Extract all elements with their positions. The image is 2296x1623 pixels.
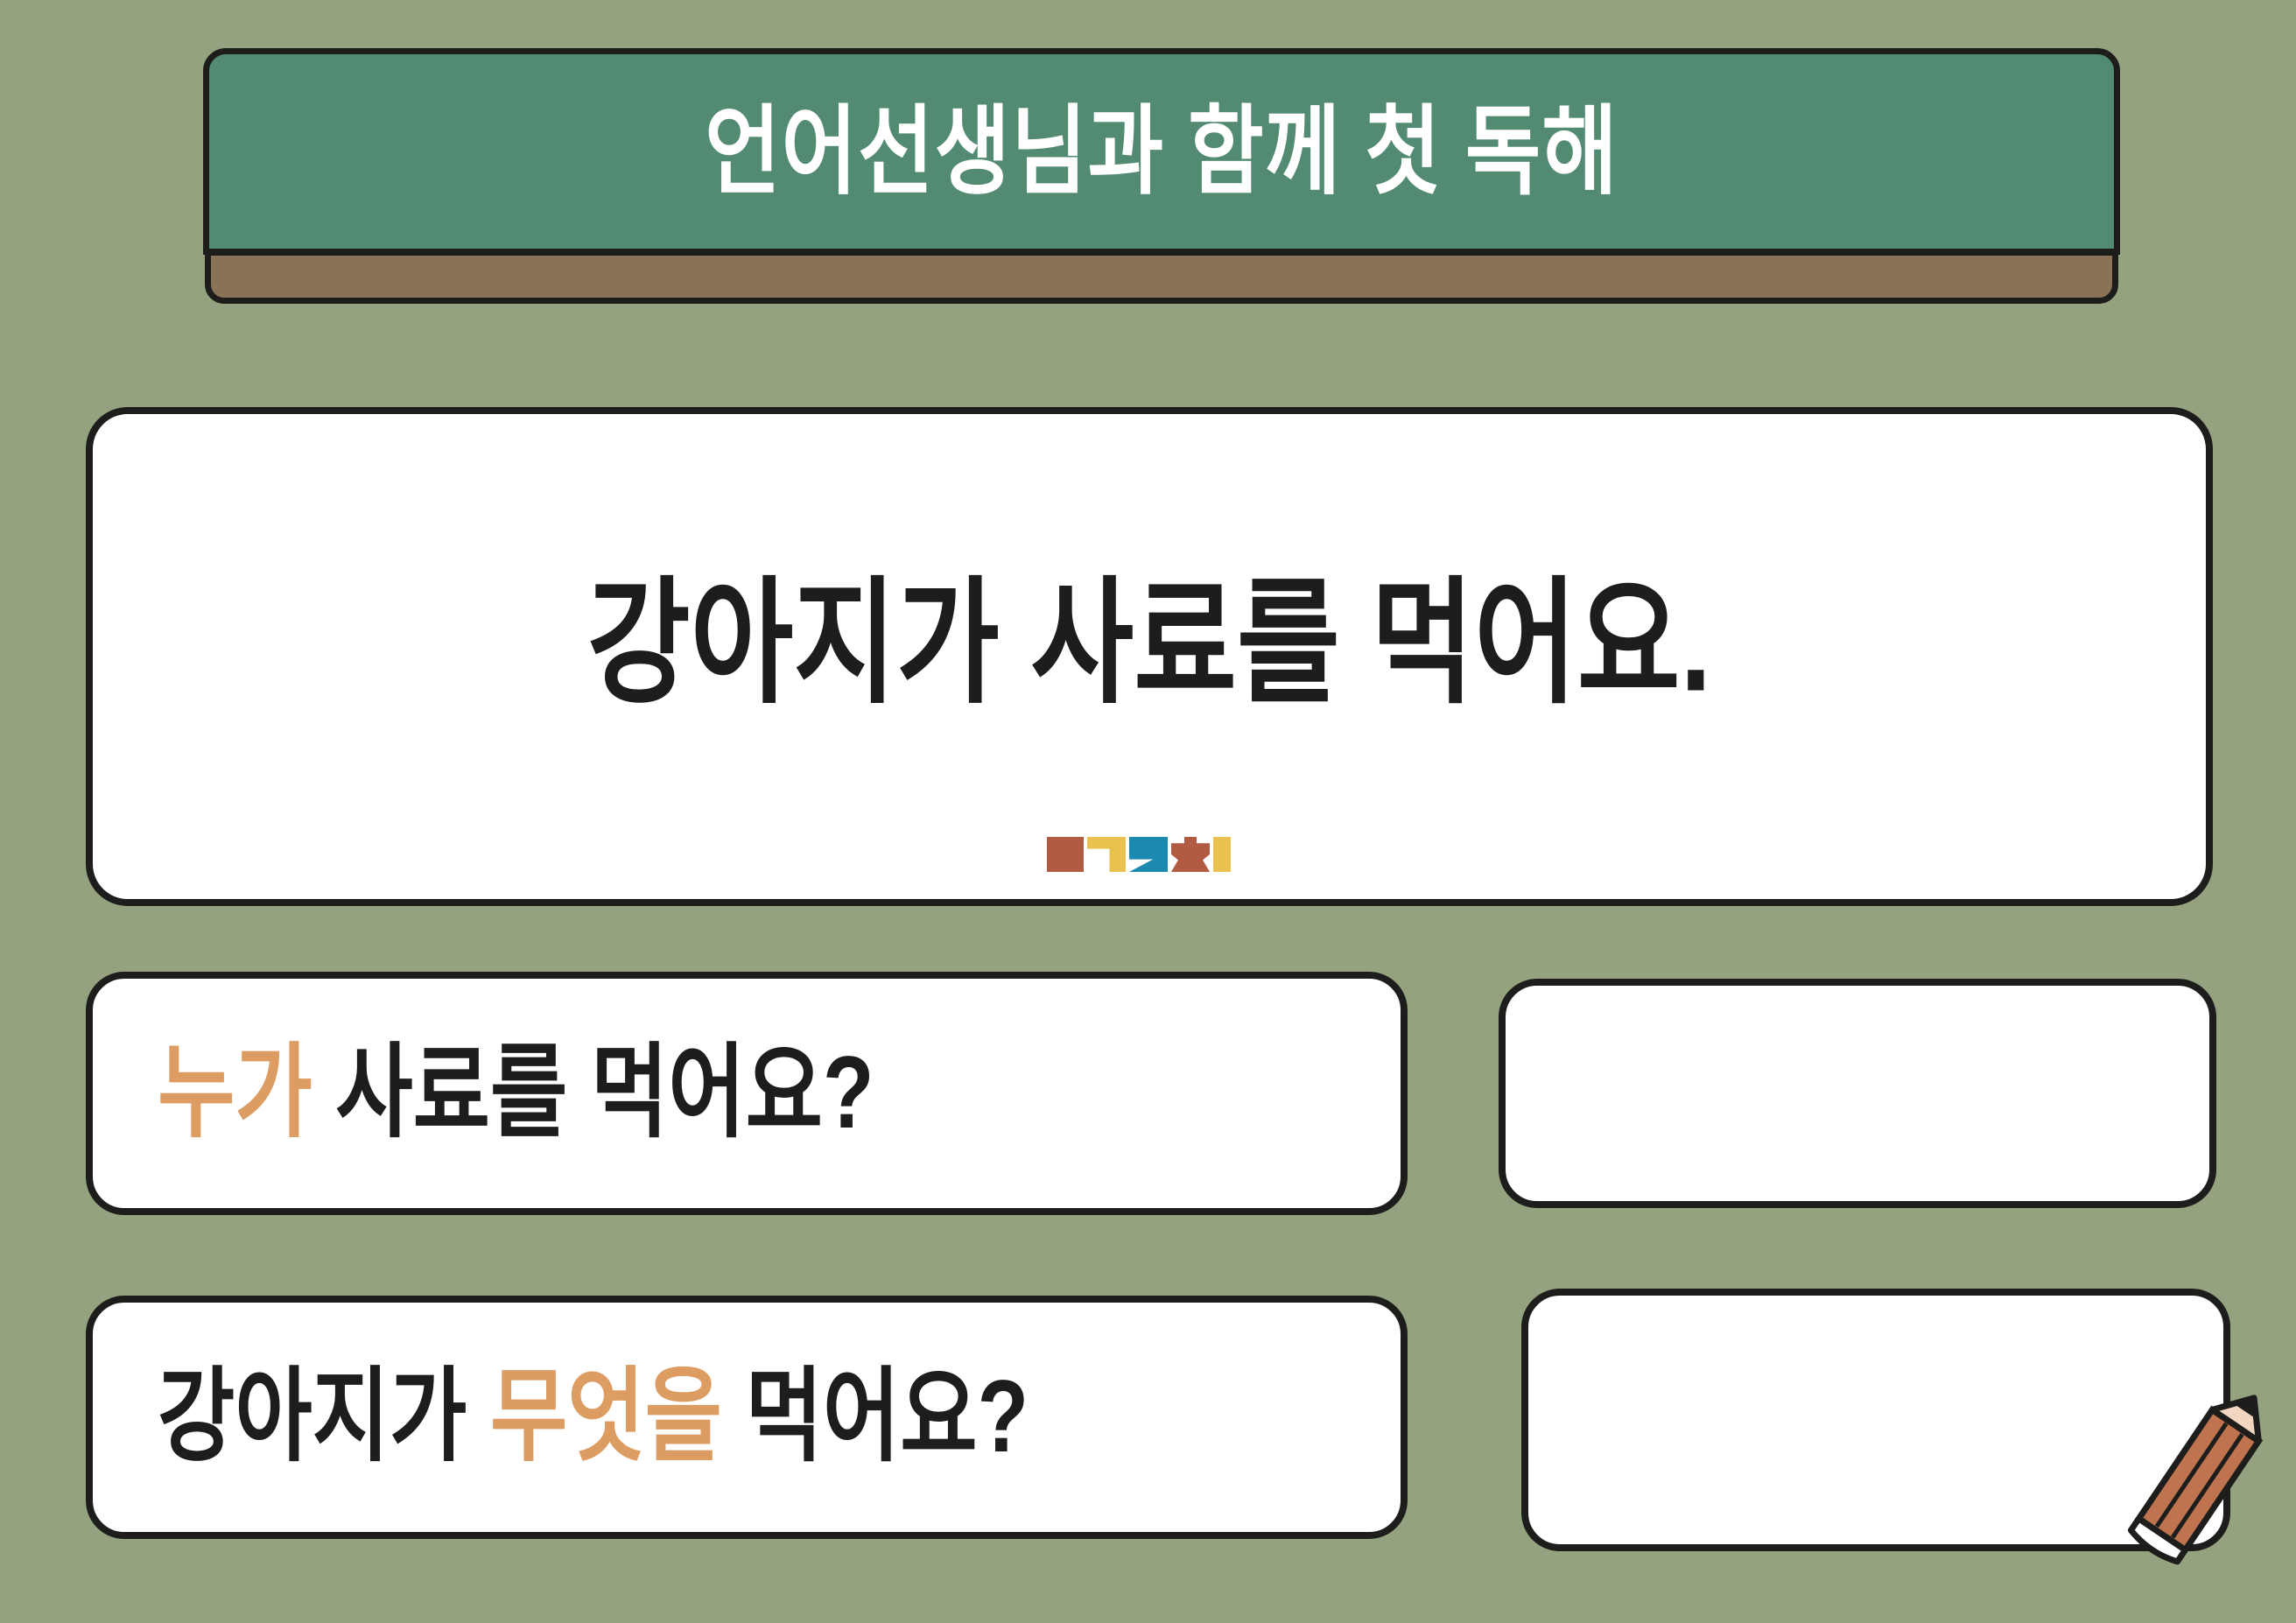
logo-mark-icon bbox=[1047, 832, 1250, 872]
question-text-2: 강아지가 무엇을 먹어요? bbox=[93, 1366, 1029, 1468]
answer-box-1[interactable] bbox=[1499, 979, 2216, 1208]
question-text-1: 누가 사료를 먹어요? bbox=[93, 1042, 874, 1144]
logo-block-2 bbox=[1087, 837, 1126, 872]
question-body-1: 사료를 먹어요? bbox=[312, 1036, 874, 1150]
logo-block-5 bbox=[1213, 837, 1231, 872]
question-card-1: 누가 사료를 먹어요? bbox=[86, 972, 1408, 1215]
question-keyword-2: 무엇을 bbox=[490, 1360, 722, 1474]
question-keyword-1: 누가 bbox=[158, 1036, 312, 1150]
question-lead-2: 강아지가 bbox=[158, 1360, 490, 1474]
page-title: 언어선생님과 함께 첫 독해 bbox=[705, 103, 1618, 200]
logo-block-3 bbox=[1129, 837, 1168, 872]
passage-sentence: 강아지가 사료를 먹어요. bbox=[587, 576, 1711, 713]
blackboard-ledge bbox=[205, 249, 2118, 304]
blackboard-panel: 언어선생님과 함께 첫 독해 bbox=[203, 48, 2120, 255]
question-card-2: 강아지가 무엇을 먹어요? bbox=[86, 1296, 1408, 1539]
answer-box-2[interactable] bbox=[1521, 1289, 2230, 1551]
logo-block-4 bbox=[1171, 837, 1210, 872]
question-body-2: 먹어요? bbox=[722, 1360, 1029, 1474]
logo-block-1 bbox=[1047, 837, 1084, 872]
blackboard-header: 언어선생님과 함께 첫 독해 bbox=[203, 48, 2120, 304]
